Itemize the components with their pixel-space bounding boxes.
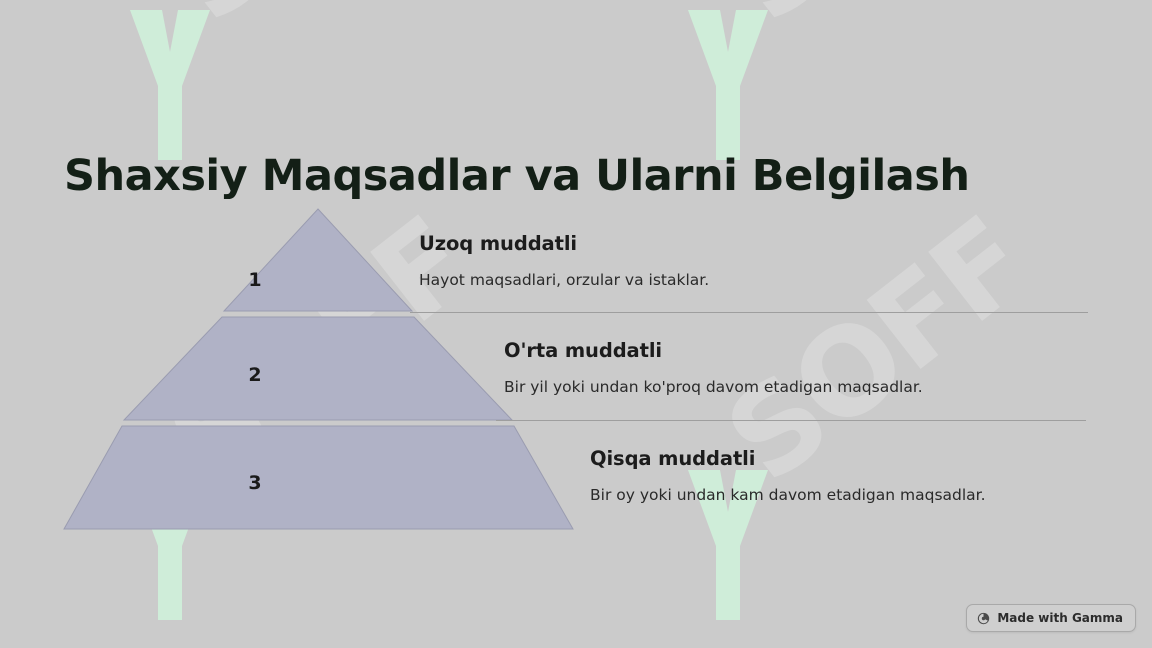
watermark-logo-icon [680, 0, 776, 170]
pyramid-tier-2-info: O'rta muddatli Bir yil yoki undan ko'pro… [504, 339, 923, 396]
pyramid-tier-2-description: Bir yil yoki undan ko'proq davom etadiga… [504, 378, 923, 396]
pyramid-tier-3-description: Bir oy yoki undan kam davom etadigan maq… [590, 486, 986, 504]
pyramid-tier-1-heading: Uzoq muddatli [419, 232, 709, 255]
watermark-text: SOFF [702, 0, 1053, 50]
pyramid-tier-1-info: Uzoq muddatli Hayot maqsadlari, orzular … [419, 232, 709, 289]
pyramid-tier-3-number: 3 [235, 472, 275, 494]
watermark-text: SOFF [144, 0, 495, 50]
slide-canvas: SOFF SOFF SOFF SOFF [0, 0, 1152, 648]
pyramid-tier-3-heading: Qisqa muddatli [590, 447, 986, 470]
tier-divider-2 [496, 420, 1086, 421]
made-with-gamma-label: Made with Gamma [997, 611, 1123, 625]
page-title: Shaxsiy Maqsadlar va Ularni Belgilash [64, 151, 969, 201]
tier-divider-1 [410, 312, 1088, 313]
pyramid-tier-1-description: Hayot maqsadlari, orzular va istaklar. [419, 271, 709, 289]
pyramid-tier-3-shape [64, 426, 573, 529]
pyramid-tier-2-number: 2 [235, 364, 275, 386]
watermark-logo-icon [122, 0, 218, 170]
pyramid-tier-2-shape [124, 317, 512, 420]
made-with-gamma-badge[interactable]: Made with Gamma [966, 604, 1136, 632]
pyramid-tier-3-info: Qisqa muddatli Bir oy yoki undan kam dav… [590, 447, 986, 504]
pyramid-tier-1-shape [224, 209, 412, 311]
pyramid-tier-2-heading: O'rta muddatli [504, 339, 923, 362]
gamma-logo-icon [977, 612, 990, 625]
pyramid-tier-1-number: 1 [235, 269, 275, 291]
